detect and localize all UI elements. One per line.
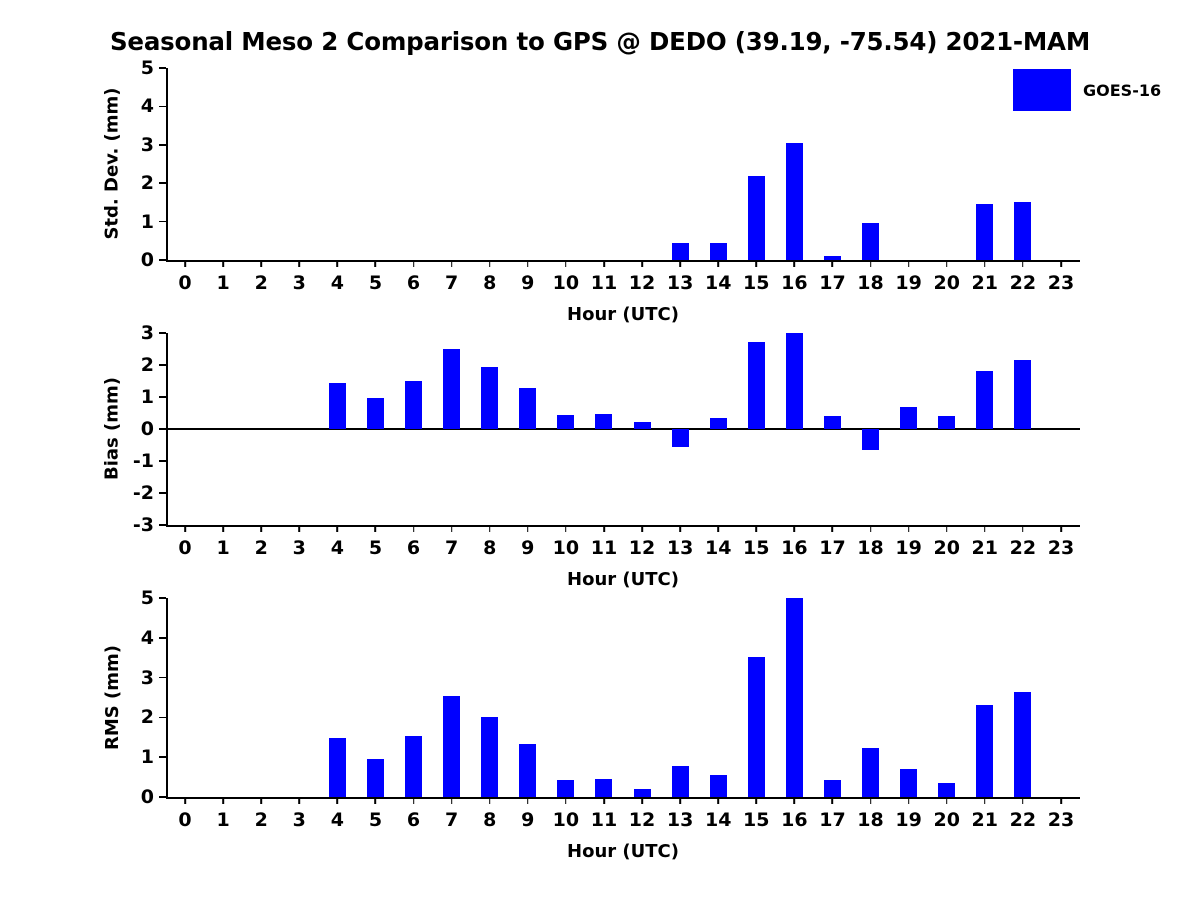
x-tick	[222, 797, 224, 804]
x-tick	[870, 797, 872, 804]
bar	[329, 738, 346, 797]
x-tick-label: 20	[933, 809, 959, 831]
x-tick	[755, 797, 757, 804]
x-axis-title-rms: Hour (UTC)	[166, 841, 1080, 862]
panel-rms: Hour (UTC)RMS (mm)0123450123456789101112…	[0, 0, 1200, 900]
x-tick-label: 15	[743, 809, 769, 831]
x-tick	[337, 797, 339, 804]
bar	[824, 780, 841, 797]
x-tick	[641, 797, 643, 804]
x-tick	[260, 797, 262, 804]
y-tick	[159, 756, 166, 758]
x-tick-label: 21	[972, 809, 998, 831]
x-tick	[794, 797, 796, 804]
x-tick	[603, 797, 605, 804]
x-tick-label: 8	[483, 809, 496, 831]
y-tick	[159, 717, 166, 719]
y-tick-label: 5	[141, 587, 154, 609]
x-tick-label: 23	[1048, 809, 1074, 831]
bar	[862, 748, 879, 797]
x-tick-label: 3	[293, 809, 306, 831]
x-tick-label: 6	[407, 809, 420, 831]
bar	[481, 717, 498, 797]
y-tick	[159, 677, 166, 679]
bar	[634, 789, 651, 797]
figure-canvas: Seasonal Meso 2 Comparison to GPS @ DEDO…	[0, 0, 1200, 900]
x-tick	[946, 797, 948, 804]
x-tick	[451, 797, 453, 804]
x-tick-label: 5	[369, 809, 382, 831]
bar	[405, 736, 422, 797]
bar	[672, 766, 689, 797]
x-tick	[413, 797, 415, 804]
x-tick-label: 0	[178, 809, 191, 831]
x-tick-label: 9	[521, 809, 534, 831]
bar	[976, 705, 993, 797]
x-tick-label: 16	[781, 809, 807, 831]
x-tick-label: 4	[331, 809, 344, 831]
x-tick	[1022, 797, 1024, 804]
y-tick-label: 0	[141, 786, 154, 808]
x-tick-label: 22	[1010, 809, 1036, 831]
bar	[443, 696, 460, 797]
y-tick	[159, 796, 166, 798]
plot-area-rms: 0123450123456789101112131415161718192021…	[166, 598, 1080, 797]
y-tick	[159, 597, 166, 599]
x-tick	[489, 797, 491, 804]
x-tick-label: 11	[591, 809, 617, 831]
x-tick-label: 14	[705, 809, 731, 831]
bar	[1014, 692, 1031, 797]
y-axis-line	[166, 598, 168, 797]
x-tick	[984, 797, 986, 804]
bar	[519, 744, 536, 797]
x-tick	[679, 797, 681, 804]
x-tick-label: 17	[819, 809, 845, 831]
x-tick	[908, 797, 910, 804]
bar	[710, 775, 727, 797]
bar	[748, 657, 765, 797]
x-tick	[565, 797, 567, 804]
y-tick-label: 1	[141, 746, 154, 768]
x-tick-label: 13	[667, 809, 693, 831]
bar	[557, 780, 574, 797]
x-tick	[184, 797, 186, 804]
x-tick-label: 7	[445, 809, 458, 831]
bar	[938, 783, 955, 797]
x-tick-label: 1	[217, 809, 230, 831]
bar	[900, 769, 917, 797]
x-tick-label: 19	[895, 809, 921, 831]
x-tick-label: 18	[857, 809, 883, 831]
y-tick-label: 4	[141, 627, 154, 649]
x-tick	[832, 797, 834, 804]
x-tick	[717, 797, 719, 804]
legend-label-goes16: GOES-16	[1083, 81, 1161, 100]
x-tick	[375, 797, 377, 804]
x-tick-label: 12	[629, 809, 655, 831]
x-axis-line	[166, 797, 1080, 799]
bar	[367, 759, 384, 797]
x-tick-label: 2	[255, 809, 268, 831]
y-axis-title-rms: RMS (mm)	[102, 578, 123, 817]
y-tick-label: 2	[141, 706, 154, 728]
x-tick	[1060, 797, 1062, 804]
x-tick	[527, 797, 529, 804]
bar	[786, 598, 803, 797]
legend: GOES-16	[1013, 69, 1161, 111]
x-tick-label: 10	[553, 809, 579, 831]
y-tick	[159, 637, 166, 639]
x-tick	[298, 797, 300, 804]
legend-swatch-goes16	[1013, 69, 1071, 111]
bar	[595, 779, 612, 797]
y-tick-label: 3	[141, 667, 154, 689]
